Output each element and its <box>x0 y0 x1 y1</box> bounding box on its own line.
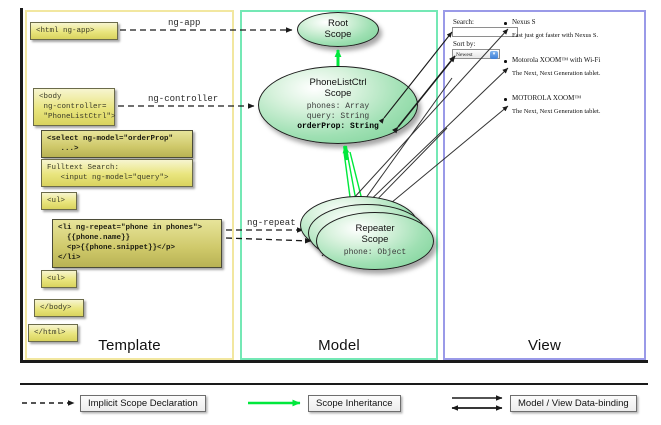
chevron-down-icon: ▾ <box>490 51 498 59</box>
diagram-canvas: Template Model View <html ng-app> <body … <box>0 0 661 425</box>
list-item: Motorola XOOM™ with Wi-Fi The Next, Next… <box>512 56 600 77</box>
scope-phonelistctrl-title: PhoneListCtrl Scope <box>309 78 366 100</box>
view-sort-label: Sort by: <box>453 40 475 48</box>
code-box-select-tag: <select ng-model="orderProp" ...> <box>41 130 193 158</box>
list-bullet <box>504 60 507 63</box>
phone-snippet: Fast just got faster with Nexus S. <box>512 32 598 39</box>
list-bullet <box>504 98 507 101</box>
scope-prop-phones: phones: Array <box>297 102 379 112</box>
scope-repeater-props: phone: Object <box>344 248 406 258</box>
scope-prop-orderprop: orderProp: String <box>297 122 379 132</box>
panel-model: Model <box>240 10 438 360</box>
phone-name: Nexus S <box>512 18 598 26</box>
list-item: MOTOROLA XOOM™ The Next, Next Generation… <box>512 94 600 115</box>
panel-model-label: Model <box>242 337 436 354</box>
legend-item-scope-inheritance: Scope Inheritance <box>308 395 401 412</box>
code-box-li-repeat-tag: <li ng-repeat="phone in phones"> {{phone… <box>52 219 222 268</box>
list-item: Nexus S Fast just got faster with Nexus … <box>512 18 598 39</box>
view-sort-selected-value: Newest <box>456 52 473 58</box>
view-search-input[interactable] <box>452 27 518 37</box>
scope-prop-query: query: String <box>297 112 379 122</box>
legend-item-data-binding: Model / View Data-binding <box>510 395 637 412</box>
scope-repeater: Repeater Scope phone: Object <box>316 212 434 270</box>
legend: Implicit Scope Declaration Scope Inherit… <box>20 383 648 421</box>
panel-view-label: View <box>445 337 644 354</box>
phone-name: MOTOROLA XOOM™ <box>512 94 600 102</box>
edge-label-ng-controller: ng-controller <box>148 94 218 104</box>
code-box-input-tag: Fulltext Search: <input ng-model="query"… <box>41 159 193 187</box>
code-box-html-close-tag: </html> <box>28 324 78 342</box>
scope-root: Root Scope <box>297 12 379 47</box>
scope-repeater-title: Repeater Scope <box>355 224 394 246</box>
phone-snippet: The Next, Next Generation tablet. <box>512 108 600 115</box>
scope-root-title: Root Scope <box>325 19 352 41</box>
code-box-ul-close-tag: <ul> <box>41 270 77 288</box>
scope-phonelistctrl-props: phones: Array query: String orderProp: S… <box>297 102 379 132</box>
code-box-body-tag: <body ng-controller= "PhoneListCtrl"> <box>33 88 115 126</box>
code-box-body-close-tag: </body> <box>34 299 84 317</box>
code-box-ul-open-tag: <ul> <box>41 192 77 210</box>
list-bullet <box>504 22 507 25</box>
phone-snippet: The Next, Next Generation tablet. <box>512 70 600 77</box>
scope-phonelistctrl: PhoneListCtrl Scope phones: Array query:… <box>258 66 418 144</box>
edge-label-ng-repeat: ng-repeat <box>247 218 296 228</box>
edge-label-ng-app: ng-app <box>168 18 200 28</box>
legend-item-implicit-scope: Implicit Scope Declaration <box>80 395 206 412</box>
view-search-label: Search: <box>453 18 474 26</box>
view-sort-select[interactable]: Newest ▾ <box>452 49 500 59</box>
code-box-html-tag: <html ng-app> <box>30 22 118 40</box>
phone-name: Motorola XOOM™ with Wi-Fi <box>512 56 600 64</box>
